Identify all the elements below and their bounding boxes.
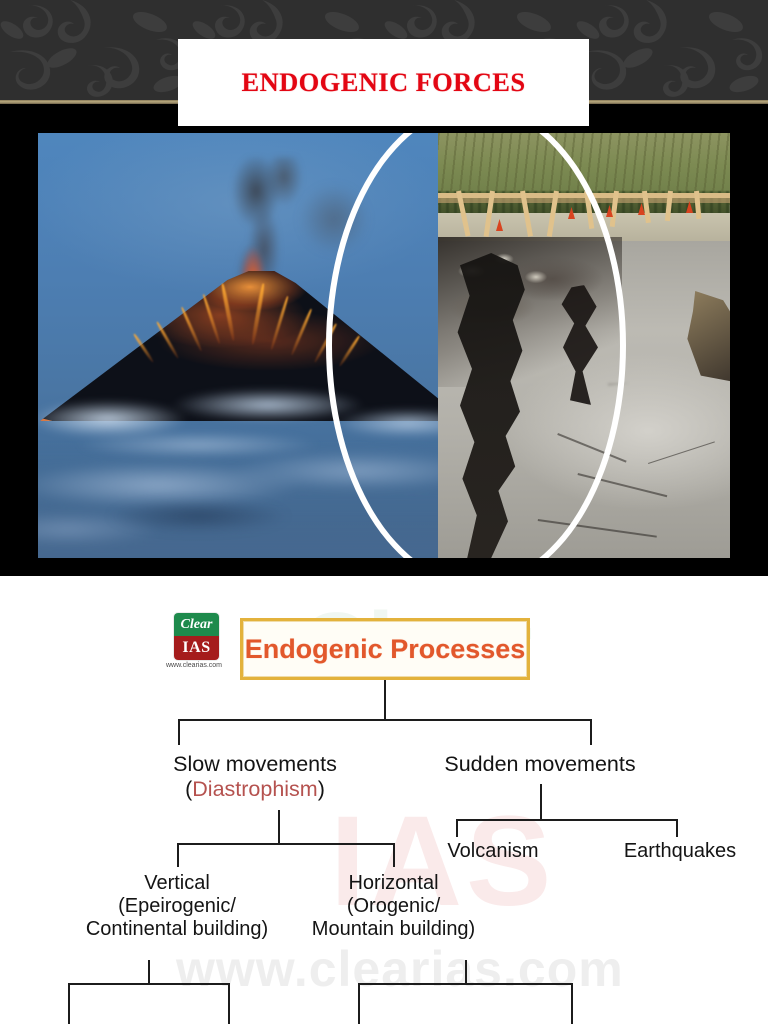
- paren-close: ): [318, 777, 325, 801]
- earthquake-road-damage-photo: [438, 133, 730, 558]
- connector-slow-stem: [278, 810, 280, 844]
- diastrophism-line: (Diastrophism): [155, 777, 355, 802]
- logo-ias-block: IAS: [174, 636, 219, 660]
- photo-stage: [0, 104, 768, 576]
- connector-level2-left-bar: [177, 843, 395, 845]
- connector-level3-left-a: [68, 983, 70, 1024]
- earthquakes-label: Earthquakes: [610, 840, 750, 863]
- connector-level3-right-b: [571, 983, 573, 1024]
- connector-sudden-stem: [540, 784, 542, 820]
- clearias-logo: Clear IAS www.clearias.com: [172, 613, 234, 675]
- connector-root-stem: [384, 680, 386, 720]
- traffic-cone-icon: [568, 207, 575, 219]
- vertical-line3: Continental building): [57, 918, 297, 941]
- photo-frame: [38, 133, 730, 558]
- slow-movements-label: Slow movements: [155, 752, 355, 777]
- logo-ias-text: IAS: [182, 639, 210, 657]
- title-banner: ENDOGENIC FORCES: [178, 39, 589, 126]
- connector-level3-right-a: [358, 983, 360, 1024]
- dark-cloud-shadow: [68, 489, 328, 543]
- horizontal-line3: Mountain building): [276, 918, 511, 941]
- node-vertical: Vertical (Epeirogenic/ Continental build…: [57, 872, 297, 942]
- traffic-cone-icon: [496, 219, 503, 231]
- logo-url-text: www.clearias.com: [166, 662, 222, 669]
- connector-level2-right-bar: [456, 819, 678, 821]
- vertical-line2: (Epeirogenic/: [57, 895, 297, 918]
- page-title: ENDOGENIC FORCES: [242, 67, 526, 98]
- logo-badge: Clear IAS: [174, 613, 219, 660]
- connector-horizontal-stem: [465, 960, 467, 984]
- connector-slow-drop: [178, 719, 180, 745]
- connector-level3-left-b: [228, 983, 230, 1024]
- connector-earthquakes-drop: [676, 819, 678, 837]
- node-slow-movements: Slow movements (Diastrophism): [155, 752, 355, 802]
- diastrophism-label: Diastrophism: [192, 777, 317, 801]
- node-horizontal: Horizontal (Orogenic/ Mountain building): [276, 872, 511, 942]
- connector-sudden-drop: [590, 719, 592, 745]
- connector-level3-left-bar: [68, 983, 230, 985]
- sudden-movements-label: Sudden movements: [430, 752, 650, 777]
- connector-horizontal-drop: [393, 843, 395, 867]
- node-endogenic-processes: Endogenic Processes: [240, 618, 530, 680]
- connector-level1-bar: [178, 719, 592, 721]
- volcano-eruption-photo: [38, 133, 468, 558]
- connector-level3-right-bar: [358, 983, 573, 985]
- node-volcanism: Volcanism: [428, 840, 558, 863]
- connector-vertical-drop: [177, 843, 179, 867]
- logo-clear-text: Clear: [181, 617, 213, 633]
- logo-clear-block: Clear: [174, 613, 219, 636]
- horizontal-line2: (Orogenic/: [276, 895, 511, 918]
- connector-vertical-stem: [148, 960, 150, 984]
- horizontal-line1: Horizontal: [276, 872, 511, 895]
- volcanism-label: Volcanism: [428, 840, 558, 863]
- watermark-url: www.clearias.com: [176, 940, 624, 998]
- root-label: Endogenic Processes: [245, 634, 526, 665]
- slide-root: ENDOGENIC FORCES: [0, 0, 768, 1024]
- node-earthquakes: Earthquakes: [610, 840, 750, 863]
- node-sudden-movements: Sudden movements: [430, 752, 650, 777]
- vertical-line1: Vertical: [57, 872, 297, 895]
- root-box-inner: Endogenic Processes: [243, 621, 527, 677]
- traffic-cone-icon: [686, 201, 693, 213]
- connector-volcanism-drop: [456, 819, 458, 837]
